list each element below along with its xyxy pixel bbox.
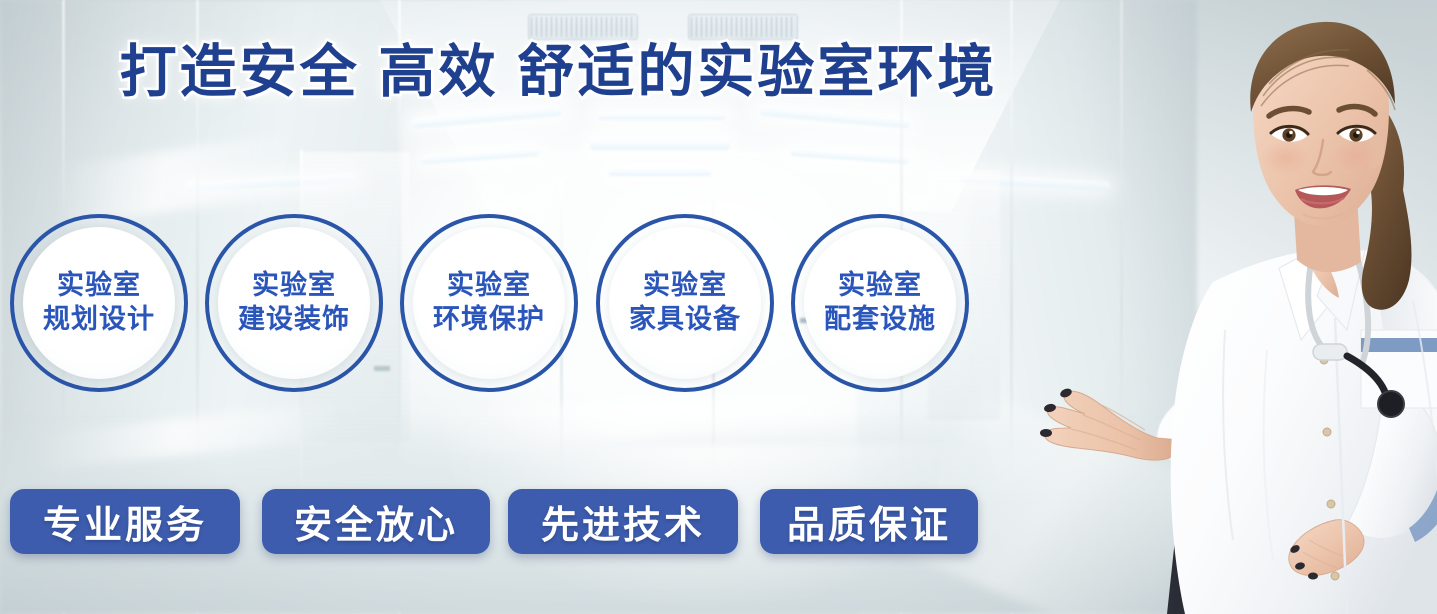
service-circle-4[interactable]: 实验室 家具设备 xyxy=(596,214,774,392)
service-circle-line2: 家具设备 xyxy=(629,303,741,337)
banner-headline: 打造安全 高效 舒适的实验室环境 xyxy=(0,41,1437,105)
service-circle-line2: 配套设施 xyxy=(824,303,936,337)
service-circle-inner: 实验室 建设装饰 xyxy=(218,227,370,379)
service-circle-line1: 实验室 xyxy=(57,269,141,303)
feature-pill-quality-guarantee[interactable]: 品质保证 xyxy=(760,489,978,554)
service-circle-5[interactable]: 实验室 配套设施 xyxy=(791,214,969,392)
service-circles-row: 实验室 规划设计 实验室 建设装饰 实验室 环境保护 实验室 家具设备 xyxy=(0,214,1010,394)
feature-pill-label: 专业服务 xyxy=(43,494,207,549)
feature-pill-professional-service[interactable]: 专业服务 xyxy=(10,489,240,554)
service-circle-inner: 实验室 规划设计 xyxy=(23,227,175,379)
feature-pill-advanced-technology[interactable]: 先进技术 xyxy=(508,489,738,554)
service-circle-line2: 建设装饰 xyxy=(238,303,350,337)
service-circle-line1: 实验室 xyxy=(447,269,531,303)
laboratory-promo-banner: 打造安全 高效 舒适的实验室环境 实验室 规划设计 实验室 建设装饰 实验室 环… xyxy=(0,0,1437,614)
feature-pill-label: 安全放心 xyxy=(294,494,458,549)
service-circle-1[interactable]: 实验室 规划设计 xyxy=(10,214,188,392)
service-circle-inner: 实验室 环境保护 xyxy=(413,227,565,379)
service-circle-line1: 实验室 xyxy=(643,269,727,303)
service-circle-line2: 环境保护 xyxy=(433,303,545,337)
service-circle-line1: 实验室 xyxy=(252,269,336,303)
service-circle-line1: 实验室 xyxy=(838,269,922,303)
feature-pill-label: 品质保证 xyxy=(787,494,951,549)
feature-pill-label: 先进技术 xyxy=(541,494,705,549)
service-circle-line2: 规划设计 xyxy=(43,303,155,337)
service-circle-2[interactable]: 实验室 建设装饰 xyxy=(205,214,383,392)
service-circle-inner: 实验室 家具设备 xyxy=(609,227,761,379)
service-circle-inner: 实验室 配套设施 xyxy=(804,227,956,379)
service-circle-3[interactable]: 实验室 环境保护 xyxy=(400,214,578,392)
feature-pill-safety-assurance[interactable]: 安全放心 xyxy=(262,489,490,554)
